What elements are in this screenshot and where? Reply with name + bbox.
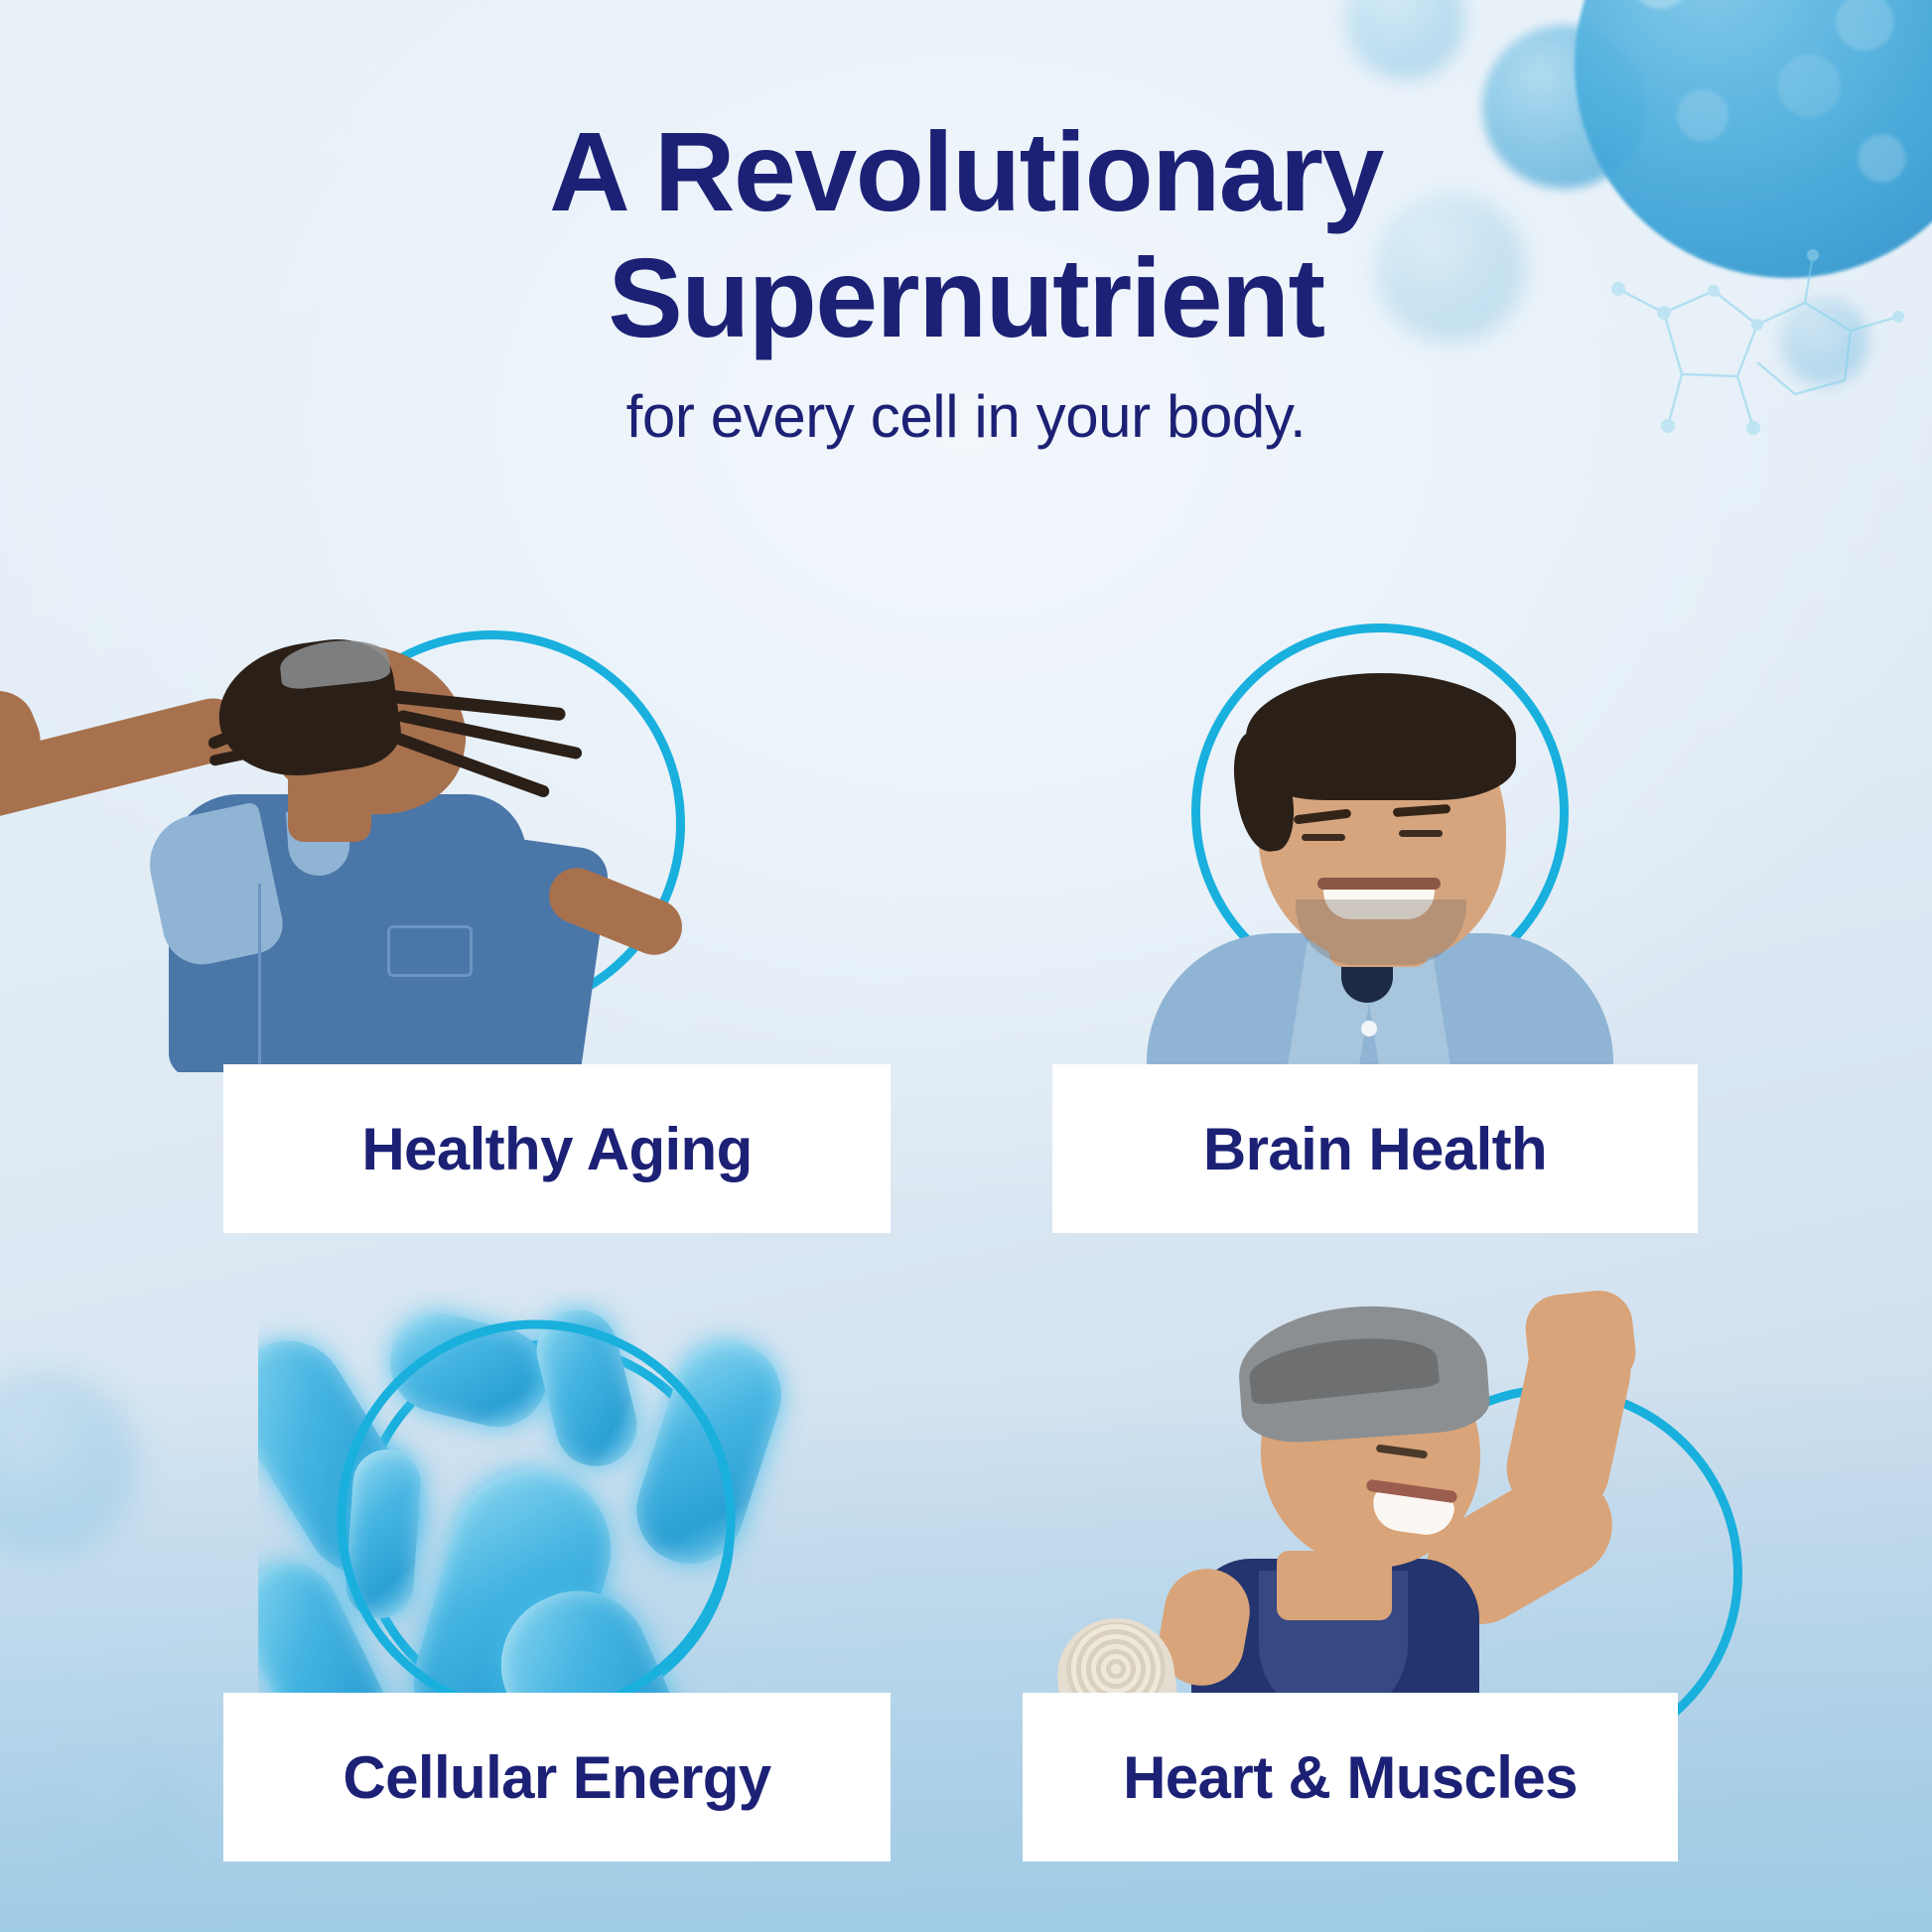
label-box-cellular-energy: Cellular Energy (223, 1693, 891, 1862)
brain-health-photo (1087, 635, 1663, 1072)
label-box-brain-health: Brain Health (1052, 1064, 1698, 1233)
label-box-healthy-aging: Healthy Aging (223, 1064, 891, 1233)
label-box-heart-muscles: Heart & Muscles (1023, 1693, 1678, 1862)
benefit-label: Healthy Aging (361, 1115, 752, 1183)
heart-muscles-photo (1023, 1281, 1678, 1708)
benefit-label: Brain Health (1203, 1115, 1547, 1183)
benefit-label: Heart & Muscles (1123, 1743, 1578, 1812)
benefit-card-grid: Healthy Aging (0, 0, 1932, 1932)
healthy-aging-photo (0, 635, 695, 1072)
benefit-label: Cellular Energy (343, 1743, 770, 1812)
cellular-energy-photo (258, 1291, 894, 1708)
